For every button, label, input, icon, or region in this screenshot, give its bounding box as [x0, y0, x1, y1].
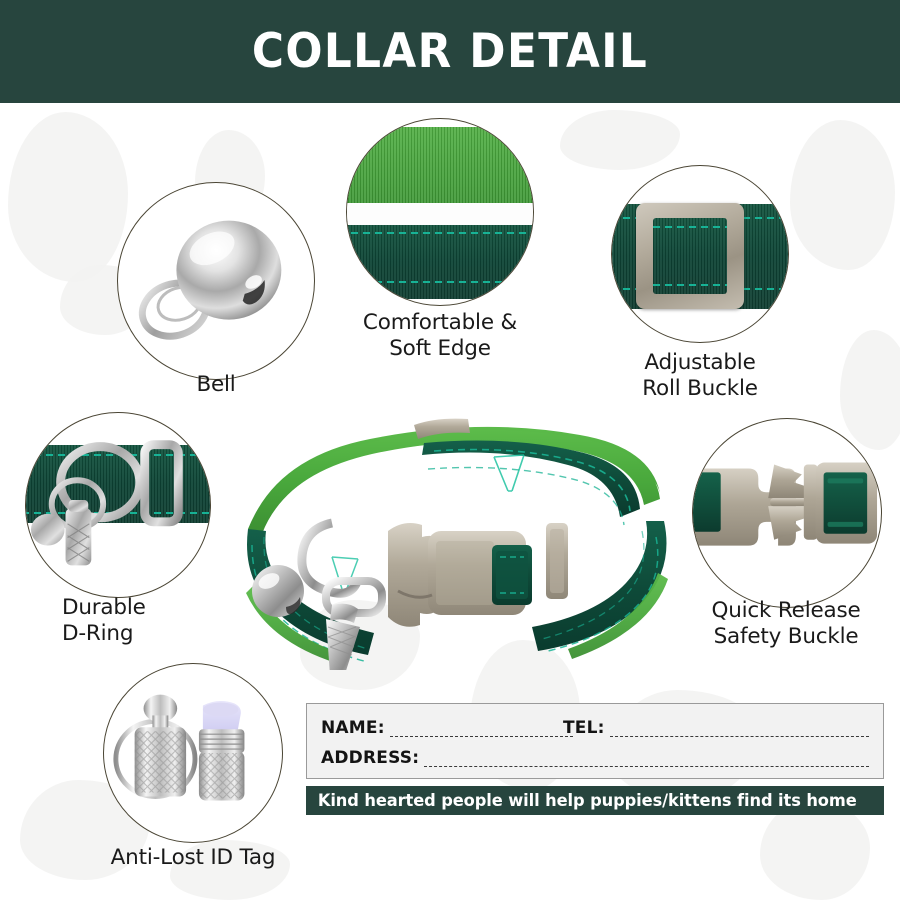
- callout-label-id-tag: Anti-Lost ID Tag: [63, 845, 323, 871]
- callout-label-quick-release: Quick Release Safety Buckle: [672, 598, 900, 650]
- white-gap: [346, 203, 534, 225]
- id-capsule-tags-icon: [104, 664, 282, 842]
- name-field-row[interactable]: NAME:: [321, 720, 573, 737]
- name-field-line[interactable]: [390, 725, 573, 737]
- watermark-silhouette: [8, 112, 128, 282]
- header-band: COLLAR DETAIL: [0, 0, 900, 103]
- side-release-buckle-icon: [693, 419, 881, 607]
- name-field-label: NAME:: [321, 720, 385, 737]
- tel-field-row[interactable]: TEL:: [563, 720, 869, 737]
- address-field-label: ADDRESS:: [321, 750, 419, 767]
- id-tag-photo-circle: [103, 663, 283, 843]
- tel-field-label: TEL:: [563, 720, 605, 737]
- watermark-silhouette: [560, 110, 680, 170]
- silver-bell-icon: [118, 183, 314, 379]
- address-field-row[interactable]: ADDRESS:: [321, 750, 869, 767]
- infographic-canvas: COLLAR DETAIL: [0, 0, 900, 900]
- bright-green-webbing: [346, 127, 534, 203]
- page-title: COLLAR DETAIL: [32, 0, 869, 103]
- callout-label-roll-buckle: Adjustable Roll Buckle: [601, 350, 799, 402]
- message-banner: Kind hearted people will help puppies/ki…: [306, 786, 884, 815]
- roll-buckle-photo-circle: [611, 165, 789, 343]
- watermark-silhouette: [760, 800, 870, 900]
- d-ring-hardware-icon: [26, 413, 210, 597]
- banner-text: Kind hearted people will help puppies/ki…: [306, 791, 857, 810]
- d-ring-photo-circle: [25, 412, 211, 598]
- watermark-silhouette: [790, 120, 895, 270]
- metal-roll-buckle: [636, 203, 744, 309]
- callout-label-soft-edge: Comfortable & Soft Edge: [326, 310, 554, 362]
- address-field-line[interactable]: [424, 755, 869, 767]
- tel-field-line[interactable]: [610, 725, 869, 737]
- callout-label-bell: Bell: [117, 372, 315, 398]
- product-photo-collar: [228, 405, 678, 670]
- dark-green-webbing: [346, 225, 534, 299]
- bell-photo-circle: [117, 182, 315, 380]
- soft-edge-photo-circle: [346, 118, 534, 306]
- green-collar-illustration: [228, 405, 678, 670]
- id-card-form: NAME: TEL: ADDRESS:: [306, 703, 884, 779]
- quick-release-photo-circle: [692, 418, 882, 608]
